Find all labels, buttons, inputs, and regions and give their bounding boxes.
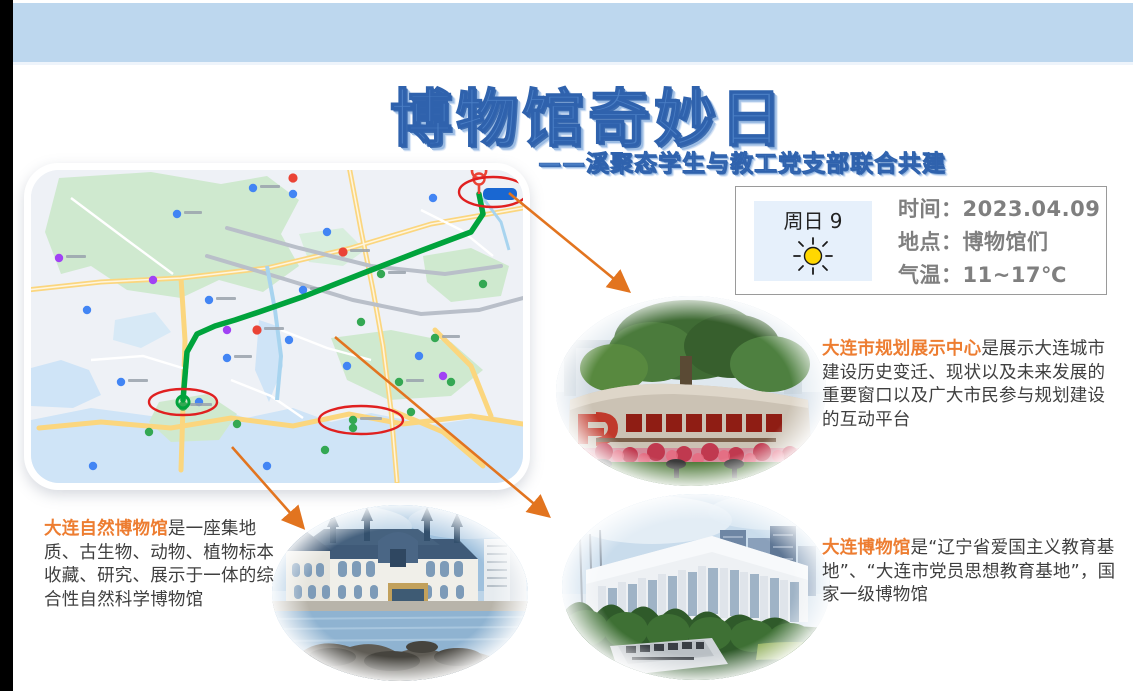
photo-dalian-museum-image xyxy=(562,494,830,680)
page-subtitle: ——溪聚态学生与教工党支部联合共建 xyxy=(538,144,946,178)
text-highlight-planning-center: 大连市规划展示中心 xyxy=(822,339,981,359)
event-info-lines: 时间：2023.04.09 地点：博物馆们 气温：11~17℃ xyxy=(898,193,1100,289)
info-label-temp: 气温： xyxy=(898,259,963,289)
info-label-date: 时间： xyxy=(898,193,963,223)
event-info-box: 周日 9 时 xyxy=(735,186,1107,295)
info-value-temp: 11~17℃ xyxy=(963,263,1067,287)
left-edge-strip xyxy=(0,0,13,691)
info-line-temp: 气温：11~17℃ xyxy=(898,259,1100,289)
info-value-place: 博物馆们 xyxy=(963,230,1049,254)
weather-card: 周日 9 xyxy=(754,201,872,281)
weather-day-label: 周日 9 xyxy=(783,205,842,234)
top-banner xyxy=(13,3,1133,62)
map-graphic xyxy=(31,170,523,483)
text-block-planning-center: 大连市规划展示中心是展示大连城市建设历史变迁、现状以及未来发展的重要窗口以及广大… xyxy=(822,338,1122,432)
info-line-date: 时间：2023.04.09 xyxy=(898,193,1100,223)
photo-planning-center-image xyxy=(556,296,826,486)
photo-planning-center xyxy=(556,296,826,486)
photo-natural-museum-image xyxy=(272,505,528,681)
text-block-dalian-museum: 大连博物馆是“辽宁省爱国主义教育基地”、“大连市党员思想教育基地”，国家一级博物… xyxy=(822,537,1122,608)
sun-icon xyxy=(790,236,836,276)
text-highlight-natural-museum: 大连自然博物馆 xyxy=(44,519,168,539)
text-highlight-dalian-museum: 大连博物馆 xyxy=(822,538,911,558)
photo-natural-museum xyxy=(272,505,528,681)
info-value-date: 2023.04.09 xyxy=(963,197,1101,221)
map-card[interactable] xyxy=(24,163,530,490)
info-label-place: 地点： xyxy=(898,226,963,256)
presentation-slide: 博物馆奇妙日 ——溪聚态学生与教工党支部联合共建 周日 9 xyxy=(0,0,1140,691)
info-line-place: 地点：博物馆们 xyxy=(898,226,1100,256)
text-block-natural-museum: 大连自然博物馆是一座集地质、古生物、动物、植物标本收藏、研究、展示于一体的综合性… xyxy=(44,518,276,612)
photo-dalian-museum xyxy=(562,494,830,680)
title-block: 博物馆奇妙日 ——溪聚态学生与教工党支部联合共建 xyxy=(330,62,890,172)
map-image[interactable] xyxy=(31,170,523,483)
